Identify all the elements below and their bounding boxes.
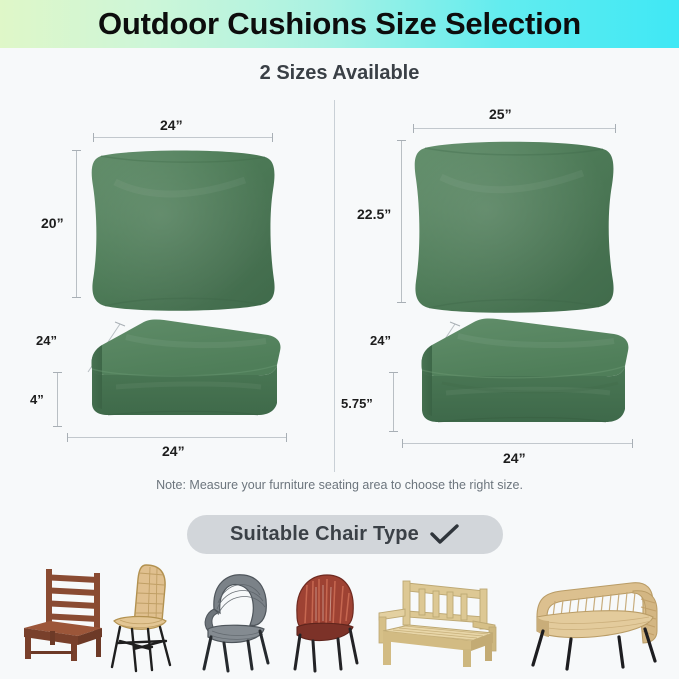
chair-rattan-loveseat-sofa	[527, 573, 659, 671]
pillow-2-height-cap-bottom	[397, 302, 406, 303]
badge-label: Suitable Chair Type	[230, 523, 419, 546]
note-text: Note: Measure your furniture seating are…	[0, 478, 679, 492]
pillow-1-width-label: 24”	[160, 117, 183, 133]
pillow-2-width-line	[413, 128, 616, 129]
seat-1-width-cap-left	[67, 433, 68, 442]
seat-1-thickness-label: 4”	[30, 392, 44, 407]
check-icon	[430, 523, 460, 547]
seat-2-width-cap-left	[402, 439, 403, 448]
subtitle: 2 Sizes Available	[0, 62, 679, 85]
seat-2-width-line	[402, 443, 633, 444]
seat-1-width-label: 24”	[162, 443, 185, 459]
seat-1-width-cap-right	[286, 433, 287, 442]
pillow-2-height-line	[401, 140, 402, 303]
pillow-2-height-cap-top	[397, 140, 406, 141]
pillow-1-height-label: 20”	[41, 215, 64, 231]
seat-2-width-cap-right	[632, 439, 633, 448]
seat-1-width-line	[67, 437, 287, 438]
pillow-1-width-line	[93, 137, 273, 138]
column-divider	[334, 100, 335, 472]
seat-2-depth-label: 24”	[370, 333, 391, 348]
seat-2-illustration	[392, 317, 642, 437]
pillow-1-height-line	[76, 150, 77, 298]
suitable-chair-type-badge: Suitable Chair Type	[187, 515, 503, 554]
header-banner: Outdoor Cushions Size Selection	[0, 0, 679, 48]
pillow-2-height-label: 22.5”	[357, 206, 391, 222]
pillow-2-width-cap-right	[615, 124, 616, 133]
pillow-1-height-cap-bottom	[72, 297, 81, 298]
chair-wooden-garden-bench	[375, 571, 503, 669]
seat-2-thickness-label: 5.75”	[341, 396, 373, 411]
pillow-2-illustration	[407, 133, 622, 313]
pillow-1-width-cap-right	[272, 133, 273, 142]
pillow-1-illustration	[85, 142, 281, 312]
chair-terracotta-rope-armchair	[283, 571, 363, 673]
pillow-2-width-label: 25”	[489, 106, 512, 122]
chair-rattan-dining-chair	[108, 563, 180, 675]
pillow-2-width-cap-left	[413, 124, 414, 133]
seat-1-depth-label: 24”	[36, 333, 57, 348]
pillow-1-height-cap-top	[72, 150, 81, 151]
page-title: Outdoor Cushions Size Selection	[98, 6, 581, 42]
chair-type-row	[0, 556, 679, 679]
infographic-page: Outdoor Cushions Size Selection 2 Sizes …	[0, 0, 679, 679]
pillow-1-width-cap-left	[93, 133, 94, 142]
seat-1-illustration	[56, 317, 296, 430]
chair-wooden-slat-armless-chair	[22, 565, 108, 663]
seat-2-width-label: 24”	[503, 450, 526, 466]
chair-gray-rope-armchair	[194, 569, 276, 673]
